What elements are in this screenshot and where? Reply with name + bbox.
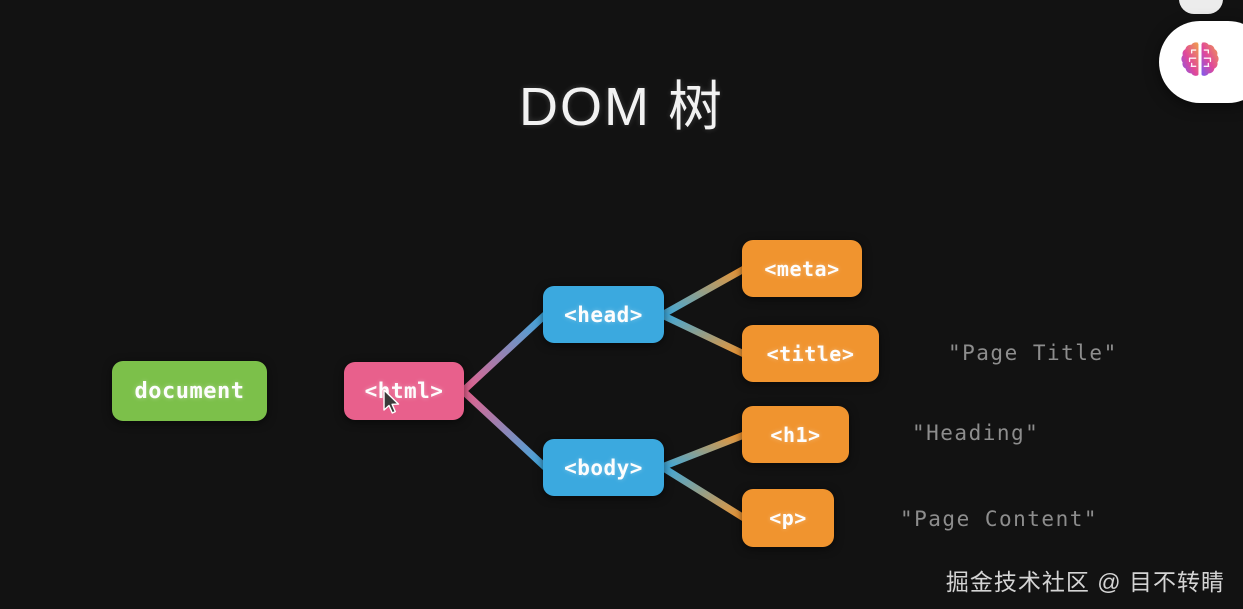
node-title-label: <title> bbox=[767, 342, 855, 366]
node-body[interactable]: <body> bbox=[543, 439, 664, 496]
dom-tree-slide: DOM 树 bbox=[0, 0, 1243, 609]
edge-head-meta bbox=[662, 269, 744, 315]
node-document[interactable]: document bbox=[112, 361, 267, 421]
node-p-label: <p> bbox=[769, 506, 807, 530]
node-h1[interactable]: <h1> bbox=[742, 406, 849, 463]
edge-html-head bbox=[463, 315, 545, 391]
node-document-label: document bbox=[135, 379, 245, 404]
text-node-page-title: "Page Title" bbox=[948, 341, 1118, 365]
node-meta-label: <meta> bbox=[764, 257, 839, 281]
node-body-label: <body> bbox=[564, 456, 643, 480]
edge-body-p bbox=[662, 467, 744, 518]
node-head[interactable]: <head> bbox=[543, 286, 664, 343]
node-html[interactable]: <html> bbox=[344, 362, 464, 420]
text-node-heading: "Heading" bbox=[912, 421, 1039, 445]
assistant-button[interactable] bbox=[1159, 21, 1243, 103]
text-node-page-content: "Page Content" bbox=[900, 507, 1098, 531]
node-title[interactable]: <title> bbox=[742, 325, 879, 382]
node-meta[interactable]: <meta> bbox=[742, 240, 862, 297]
node-p[interactable]: <p> bbox=[742, 489, 834, 547]
edge-html-body bbox=[463, 391, 545, 467]
node-h1-label: <h1> bbox=[770, 423, 820, 447]
node-head-label: <head> bbox=[564, 303, 643, 327]
node-html-label: <html> bbox=[365, 379, 444, 403]
edge-body-h1 bbox=[662, 435, 744, 467]
brain-icon bbox=[1177, 39, 1223, 85]
watermark: 掘金技术社区 @ 目不转睛 bbox=[946, 563, 1225, 597]
edge-head-title bbox=[662, 315, 744, 354]
